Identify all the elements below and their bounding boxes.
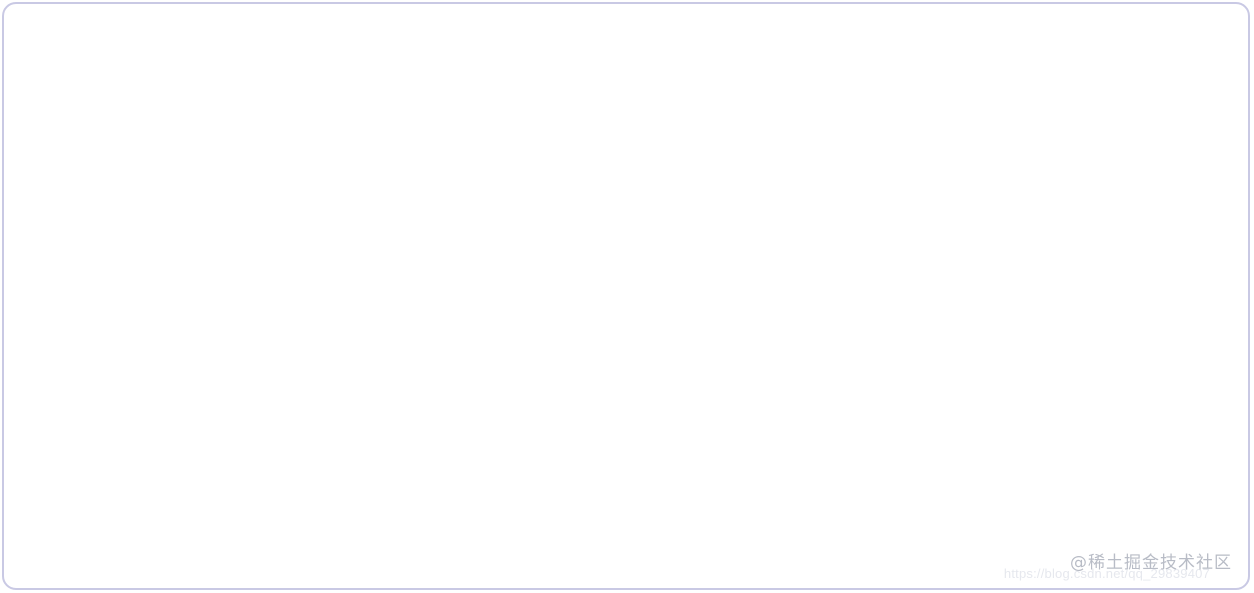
- scope-bar-label-continuous-integration: Continuous Integration: [239, 426, 531, 458]
- pipeline-stage-label-release: release: [749, 226, 847, 259]
- pipeline-stage-label-operate: operate: [1083, 226, 1185, 259]
- devops-diagram-svg: plan code build test release deploy oper…: [0, 0, 1254, 593]
- pipeline-stage-label-deploy: deploy: [919, 226, 1007, 259]
- scope-bar-label-agile-development: Agile Development: [145, 501, 388, 533]
- value-axis-label: value: [21, 380, 53, 449]
- pipeline-stage-label-plan: plan: [98, 226, 155, 259]
- collaboration-label: collaboration: [789, 545, 953, 577]
- devops-diagram-canvas: plan code build test release deploy oper…: [0, 0, 1254, 593]
- scope-bar-devops: DevOps: [82, 283, 1165, 315]
- firefox-cursor-icon: [674, 370, 699, 399]
- devops-swirl-icon: [741, 16, 1014, 232]
- pipeline-band: plan code build test release deploy oper…: [33, 215, 1224, 265]
- pipeline-stage-label-code: code: [261, 226, 326, 259]
- scope-bar-label-continuous-delivery: Continuous Delivery: [349, 356, 609, 388]
- pipeline-stage-label-test: test: [605, 226, 654, 259]
- watermark-community: @稀土掘金技术社区: [1070, 548, 1232, 573]
- scope-bar-continuous-integration: Continuous Integration: [82, 426, 700, 458]
- scope-bar-label-devops: DevOps: [560, 283, 665, 315]
- pipeline-stage-label-build: build: [429, 226, 492, 259]
